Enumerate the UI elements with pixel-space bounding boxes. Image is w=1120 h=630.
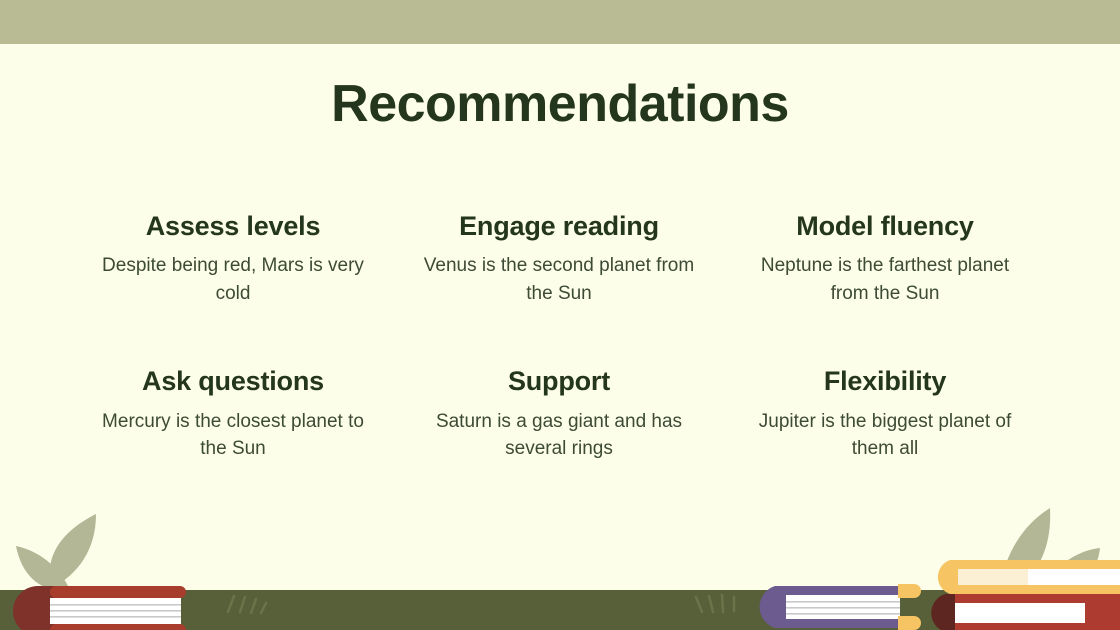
ground-band (0, 590, 1120, 630)
recommendation-heading: Support (404, 365, 714, 397)
recommendation-heading: Engage reading (404, 210, 714, 242)
recommendation-item-1: Assess levels Despite being red, Mars is… (70, 210, 396, 307)
recommendation-item-4: Ask questions Mercury is the closest pla… (70, 365, 396, 462)
recommendation-item-5: Support Saturn is a gas giant and has se… (396, 365, 722, 462)
leaf-icon (1040, 548, 1100, 586)
recommendation-heading: Ask questions (78, 365, 388, 397)
recommendation-body: Mercury is the closest planet to the Sun (88, 408, 378, 463)
recommendation-heading: Assess levels (78, 210, 388, 242)
recommendation-item-6: Flexibility Jupiter is the biggest plane… (722, 365, 1048, 462)
recommendation-body: Venus is the second planet from the Sun (414, 252, 704, 307)
recommendations-grid: Assess levels Despite being red, Mars is… (70, 210, 1050, 521)
top-decorative-band (0, 0, 1120, 44)
recommendation-item-3: Model fluency Neptune is the farthest pl… (722, 210, 1048, 307)
leaf-icon (50, 514, 96, 588)
leaf-icon-left-group (16, 514, 96, 591)
page-title: Recommendations (0, 74, 1120, 134)
recommendation-body: Jupiter is the biggest planet of them al… (740, 408, 1030, 463)
book-icon-gold (938, 560, 1120, 594)
recommendation-body: Neptune is the farthest planet from the … (740, 252, 1030, 307)
recommendation-heading: Model fluency (730, 210, 1040, 242)
leaf-icon (16, 546, 70, 591)
recommendation-body: Despite being red, Mars is very cold (88, 252, 378, 307)
recommendation-item-2: Engage reading Venus is the second plane… (396, 210, 722, 307)
recommendation-body: Saturn is a gas giant and has several ri… (414, 408, 704, 463)
recommendation-heading: Flexibility (730, 365, 1040, 397)
slide: Recommendations Assess levels Despite be… (0, 0, 1120, 630)
